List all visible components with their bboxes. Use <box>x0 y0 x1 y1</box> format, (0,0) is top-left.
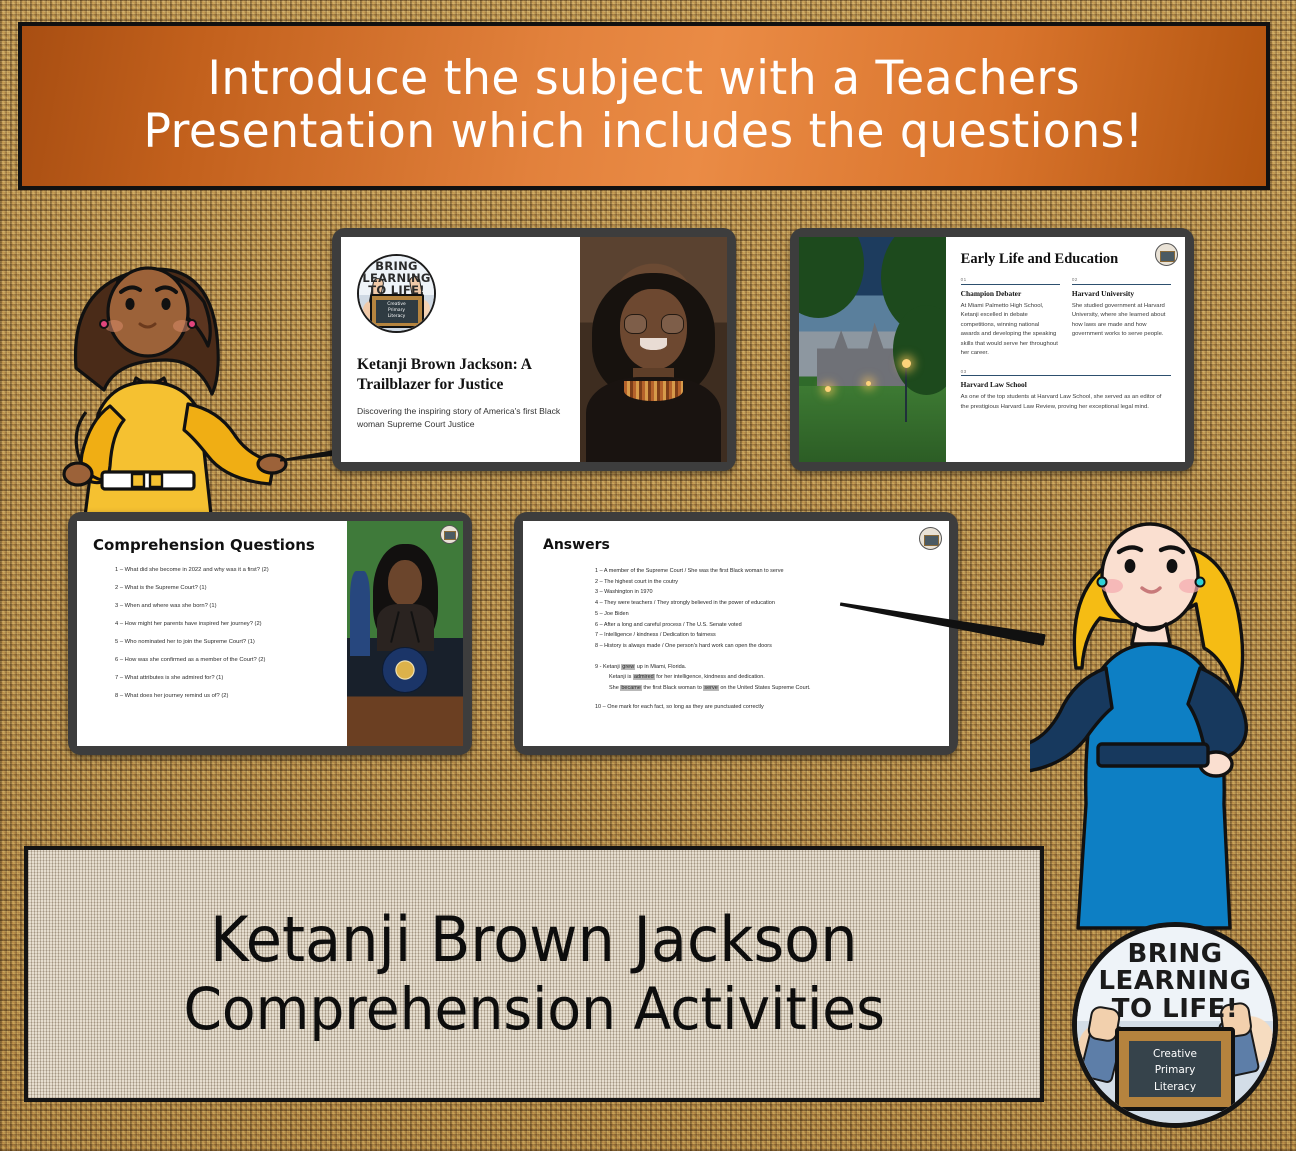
slide2-col2-number: 02 <box>1072 277 1171 282</box>
bottom-banner-line-2: Comprehension Activities <box>183 976 884 1043</box>
slide2-campus-image <box>799 237 946 462</box>
badge-board-line-3: Literacy <box>1129 1079 1221 1095</box>
slide2-col1-heading: Champion Debater <box>961 289 1060 298</box>
teacher-illustration-left <box>36 228 336 528</box>
teacher-left-svg <box>36 228 336 528</box>
answer-item: 6 – After a long and careful process / T… <box>595 620 933 631</box>
top-banner: Introduce the subject with a Teachers Pr… <box>18 22 1270 190</box>
slide-comprehension-questions[interactable]: Comprehension Questions 1 – What did she… <box>68 512 472 755</box>
slide2-column-1: 01 Champion Debater At Miami Palmetto Hi… <box>961 277 1060 359</box>
slide-answers[interactable]: Answers 1 – A member of the Supreme Cour… <box>514 512 958 755</box>
badge-line-1: BRING <box>1077 941 1273 968</box>
answer-item: 3 – Washington in 1970 <box>595 587 933 598</box>
slide2-title: Early Life and Education <box>961 251 1171 268</box>
chalkboard-icon: CreativePrimaryLiteracy <box>370 294 424 328</box>
badge-board-line-1: Creative <box>1129 1046 1221 1062</box>
slide2-column-2: 02 Harvard University She studied govern… <box>1072 277 1171 359</box>
top-banner-line-2: Presentation which includes the question… <box>144 106 1144 159</box>
badge-board-line-2: Primary <box>1129 1062 1221 1078</box>
answer-9-line-1: 9 - Ketanji grew up in Miami, Florida. <box>595 662 933 673</box>
question-item: 8 – What does her journey remind us of? … <box>115 693 337 700</box>
slide-early-life-education[interactable]: Early Life and Education 01 Champion Deb… <box>790 228 1194 471</box>
answer-item: 8 – History is always made / One person'… <box>595 641 933 652</box>
corner-logo-icon <box>1155 243 1178 266</box>
question-item: 4 – How might her parents have inspired … <box>115 621 337 628</box>
question-item: 5 – Who nominated her to join the Suprem… <box>115 639 337 646</box>
slide2-col1-number: 01 <box>961 277 1060 282</box>
answer-item-10: 10 – One mark for each fact, so long as … <box>595 704 933 710</box>
answer-9-line-3: She became the first Black woman to serv… <box>595 683 933 694</box>
slide2-col2-heading: Harvard University <box>1072 289 1171 298</box>
badge-line-3: TO LIFE! <box>1077 996 1273 1023</box>
slide4-title: Answers <box>543 537 933 553</box>
corner-logo-icon <box>440 525 459 544</box>
answer-item-9: 9 - Ketanji grew up in Miami, Florida. K… <box>595 662 933 694</box>
bottom-title-banner: Ketanji Brown Jackson Comprehension Acti… <box>24 846 1044 1102</box>
highlighted-word: became <box>620 685 642 691</box>
slide2-col1-body: At Miami Palmetto High School, Ketanji e… <box>961 302 1060 359</box>
bring-learning-to-life-logo-icon: BRING LEARNING TO LIFE! CreativePrimaryL… <box>357 254 436 333</box>
slide2-col3-number: 03 <box>961 369 1171 374</box>
question-item: 7 – What attributes is she admired for? … <box>115 675 337 682</box>
question-item: 2 – What is the Supreme Court? (1) <box>115 585 337 592</box>
highlighted-word: grew <box>621 664 635 670</box>
answer-item: 1 – A member of the Supreme Court / She … <box>595 566 933 577</box>
badge-line-2: LEARNING <box>1077 968 1273 995</box>
question-item: 3 – When and where was she born? (1) <box>115 603 337 610</box>
answer-item: 7 – Intelligence / kindness / Dedication… <box>595 630 933 641</box>
slide3-podium-image <box>347 521 463 746</box>
teacher-illustration-right <box>1030 492 1296 932</box>
slide2-col3-body: As one of the top students at Harvard La… <box>961 393 1171 412</box>
badge-chalkboard-icon: Creative Primary Literacy <box>1115 1027 1235 1111</box>
slide1-title: Ketanji Brown Jackson: A Trailblazer for… <box>357 355 564 395</box>
highlighted-word: serve <box>703 685 718 691</box>
highlighted-word: admired <box>633 674 655 680</box>
teacher-right-svg <box>1030 492 1296 932</box>
top-banner-line-1: Introduce the subject with a Teachers <box>208 53 1081 106</box>
question-item: 6 – How was she confirmed as a member of… <box>115 657 337 664</box>
slide2-col2-body: She studied government at Harvard Univer… <box>1072 302 1171 340</box>
slide-title-ketanji[interactable]: BRING LEARNING TO LIFE! CreativePrimaryL… <box>332 228 736 471</box>
slide2-col3-heading: Harvard Law School <box>961 380 1171 389</box>
brand-badge-logo: BRING LEARNING TO LIFE! Creative Primary… <box>1072 922 1278 1128</box>
slide1-portrait-image <box>580 237 727 462</box>
bottom-banner-line-1: Ketanji Brown Jackson <box>210 904 857 976</box>
answer-item: 2 – The highest court in the coutry <box>595 577 933 588</box>
question-item: 1 – What did she become in 2022 and why … <box>115 567 337 574</box>
answer-9-line-2: Ketanji is admired for her intelligence,… <box>595 672 933 683</box>
slide3-title: Comprehension Questions <box>93 536 337 554</box>
slide1-subtitle: Discovering the inspiring story of Ameri… <box>357 405 564 431</box>
slide2-column-3: 03 Harvard Law School As one of the top … <box>961 369 1171 413</box>
corner-logo-icon <box>919 527 942 550</box>
answer-item: 4 – They were teachers / They strongly b… <box>595 598 933 609</box>
product-cover: Introduce the subject with a Teachers Pr… <box>0 0 1296 1151</box>
